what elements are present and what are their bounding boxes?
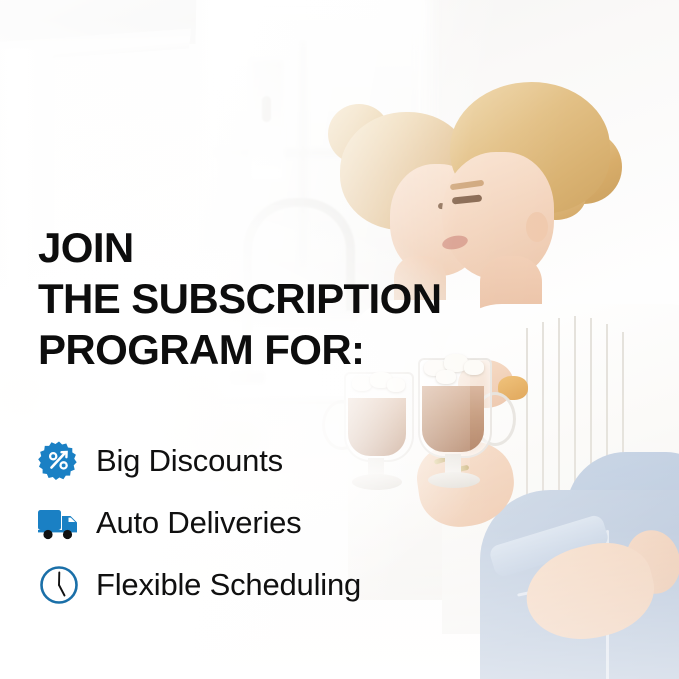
- subscription-promo-banner: JOIN THE SUBSCRIPTION PROGRAM FOR:: [0, 0, 679, 679]
- headline-line-1: JOIN: [38, 222, 638, 273]
- headline-line-3: PROGRAM FOR:: [38, 324, 638, 375]
- benefit-label: Big Discounts: [96, 443, 283, 479]
- benefit-item-discounts: Big Discounts: [36, 430, 636, 492]
- benefit-item-scheduling: Flexible Scheduling: [36, 554, 636, 616]
- marshmallow: [387, 378, 405, 392]
- headline-block: JOIN THE SUBSCRIPTION PROGRAM FOR:: [38, 222, 638, 375]
- benefit-label: Flexible Scheduling: [96, 567, 361, 603]
- page-title: JOIN THE SUBSCRIPTION PROGRAM FOR:: [38, 222, 638, 375]
- marshmallow: [352, 376, 372, 391]
- benefits-list: Big Discounts Auto Deliveries: [36, 430, 636, 616]
- discount-badge-percent-icon: [36, 438, 82, 484]
- pastry-blob: [80, 392, 138, 434]
- cabinet-handle: [262, 96, 271, 122]
- benefit-label: Auto Deliveries: [96, 505, 301, 541]
- headline-line-2: THE SUBSCRIPTION: [38, 273, 638, 324]
- clock-icon: [36, 562, 82, 608]
- delivery-truck-icon: [36, 500, 82, 546]
- benefit-item-deliveries: Auto Deliveries: [36, 492, 636, 554]
